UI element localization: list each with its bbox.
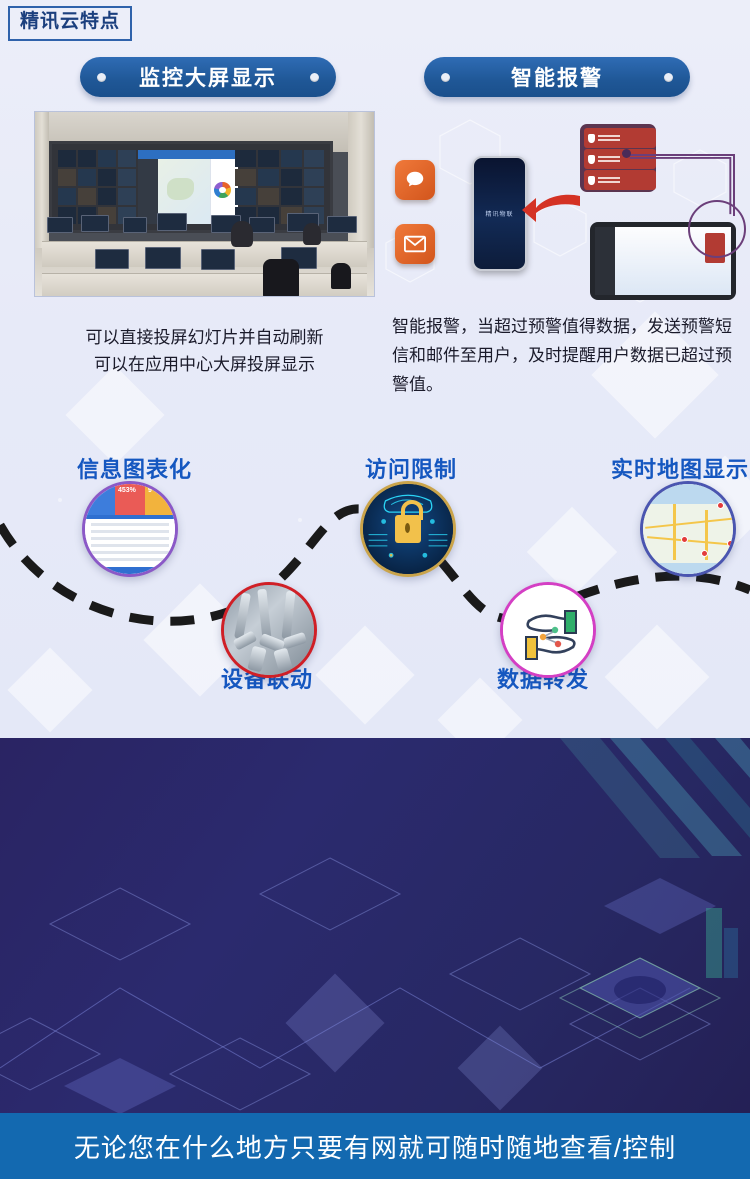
monitor-caption-line2: 可以在应用中心大屏投屏显示 [34,351,375,378]
feature-title-chart: 信息图表化 [77,452,192,484]
shield-icon [588,155,595,164]
panel-heading-monitor: 监控大屏显示 [80,57,336,97]
callout-zoom-circle [688,200,746,258]
robot-arm-icon [221,582,317,678]
panel-heading-alarm-label: 智能报警 [511,62,603,92]
pill-dot-left-icon [97,73,106,82]
lock-circuit-icon [360,481,456,577]
app-miniprogram-section: 支持小程序 /APP 监测、上报、存储等一站式服务 轻松打造独立专属的在线云平台… [0,738,750,1113]
alert-phone-mockup: 精讯物联 [472,156,527,271]
pill-dot-right-icon [310,73,319,82]
feature-title-access: 访问限制 [365,452,457,484]
panel-heading-alarm: 智能报警 [424,57,690,97]
feature-title-map: 实时地图显示 [611,452,749,484]
pill-dot-right-icon [664,73,673,82]
hand-exchange-icon [500,582,596,678]
brand-tag: 精讯云特点 [8,6,132,41]
callout-dot-icon [622,149,631,158]
shield-icon [588,176,595,185]
shield-icon [588,134,595,143]
sms-app-icon [395,160,435,200]
alert-phone-label: 精讯物联 [485,209,513,218]
panel-heading-monitor-label: 监控大屏显示 [139,62,277,92]
pill-dot-left-icon [441,73,450,82]
control-room-photo [34,111,375,297]
footer-bar: 无论您在什么地方只要有网就可随时随地查看/控制 [0,1113,750,1179]
map-icon [640,481,736,577]
monitor-caption-line1: 可以直接投屏幻灯片并自动刷新 [34,324,375,351]
smart-alarm-illustration: 精讯物联 [392,112,744,300]
alert-flow-arrow-icon [522,192,582,226]
mail-app-icon [395,224,435,264]
footer-text: 无论您在什么地方只要有网就可随时随地查看/控制 [74,1128,676,1165]
isometric-server-decor [520,878,750,1113]
features-top-section: 精讯云特点 监控大屏显示 智能报警 [0,0,750,738]
monitor-caption: 可以直接投屏幻灯片并自动刷新 可以在应用中心大屏投屏显示 [34,324,375,378]
dashboard-chart-icon: 453% 9 [82,481,178,577]
alarm-caption: 智能报警，当超过预警值得数据，发送预警短信和邮件至用户，及时提醒用户数据已超过预… [392,312,742,399]
